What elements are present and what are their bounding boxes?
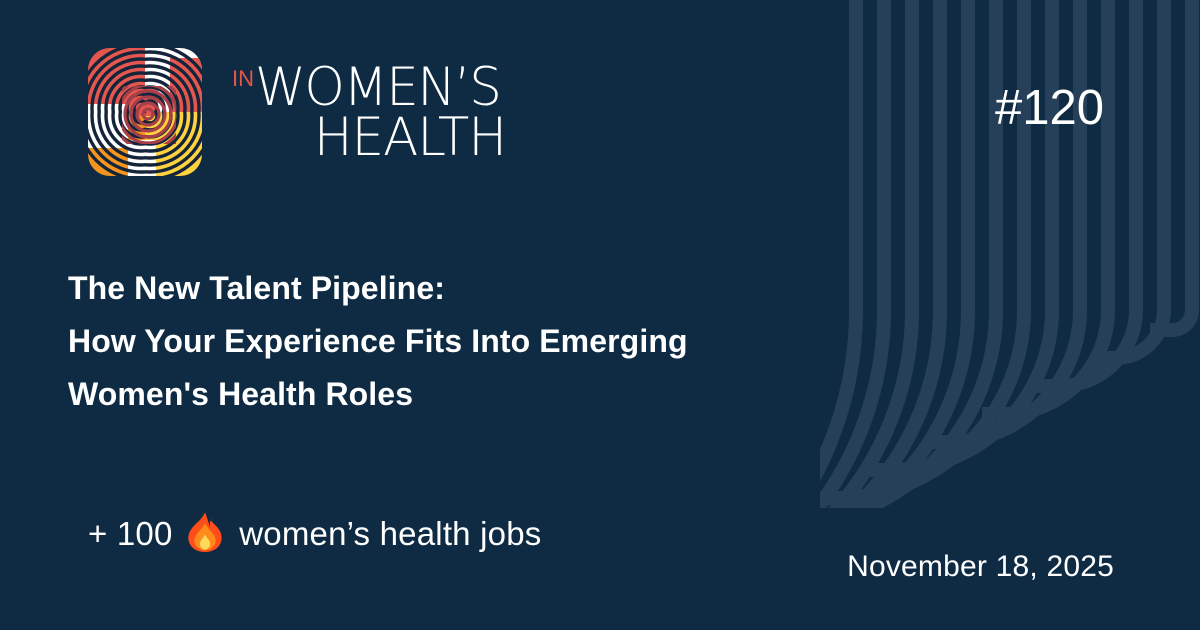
episode-date: November 18, 2025 <box>847 552 1114 582</box>
in-womens-health-logo-mark <box>84 44 206 180</box>
episode-title: The New Talent Pipeline: How Your Experi… <box>68 262 828 421</box>
brand-logo-block: IN WOMEN’S HEALTH <box>84 44 508 180</box>
episode-title-line-2: How Your Experience Fits Into Emerging <box>68 315 828 368</box>
wordmark-womens: WOMEN’S <box>255 64 500 113</box>
wordmark-health: HEALTH <box>240 111 508 164</box>
share-card-canvas: IN WOMEN’S HEALTH #120 The New Talent Pi… <box>0 0 1200 630</box>
jobs-label: women’s health jobs <box>230 517 542 550</box>
episode-number: #120 <box>995 84 1104 133</box>
jobs-callout: + 100 women’s health jobs <box>88 512 541 554</box>
brand-wordmark: IN WOMEN’S HEALTH <box>232 60 508 164</box>
episode-title-line-1: The New Talent Pipeline: <box>68 262 828 315</box>
wordmark-in: IN <box>232 68 254 90</box>
fire-icon <box>186 511 224 553</box>
episode-title-line-3: Women's Health Roles <box>68 368 828 421</box>
jobs-count-label: + 100 <box>88 517 182 550</box>
